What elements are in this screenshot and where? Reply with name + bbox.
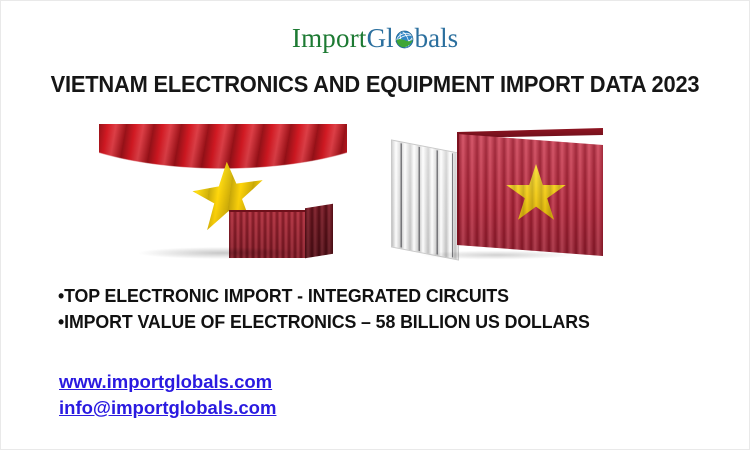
flag-container-photo xyxy=(369,116,611,264)
logo-text-bals: bals xyxy=(415,23,459,53)
container-ground-shadow xyxy=(395,250,599,260)
bullet-item-top-electronic-import: •TOP ELECTRONIC IMPORT - INTEGRATED CIRC… xyxy=(58,283,590,309)
vietnam-flag-shipping-container xyxy=(369,116,611,264)
brand-logo[interactable]: ImportGl bals xyxy=(1,25,749,52)
flag-drape-photo xyxy=(99,114,347,266)
website-link[interactable]: www.importglobals.com xyxy=(59,369,276,395)
container-door-locking-bars xyxy=(393,142,457,258)
slide-canvas: ImportGl bals VIETNAM ELECTRONICS AND EQ… xyxy=(0,0,750,450)
bullet-list: •TOP ELECTRONIC IMPORT - INTEGRATED CIRC… xyxy=(58,283,590,335)
bullet-item-import-value: •IMPORT VALUE OF ELECTRONICS – 58 BILLIO… xyxy=(58,309,590,335)
ground-shadow xyxy=(105,246,337,260)
image-row xyxy=(1,114,750,266)
email-link[interactable]: info@importglobals.com xyxy=(59,395,276,421)
contact-block: www.importglobals.com info@importglobals… xyxy=(59,369,276,421)
globe-icon xyxy=(394,29,415,50)
logo-text-import: Import xyxy=(292,23,367,53)
logo-text-gl: Gl xyxy=(367,23,394,53)
page-title: VIETNAM ELECTRONICS AND EQUIPMENT IMPORT… xyxy=(27,71,723,98)
